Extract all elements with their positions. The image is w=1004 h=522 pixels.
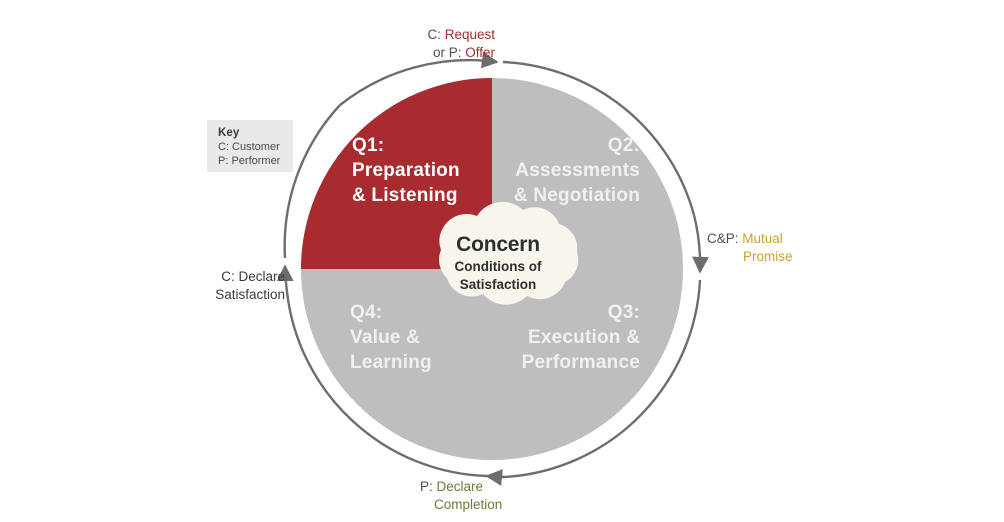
quadrant-q1-line1: Preparation bbox=[352, 158, 492, 183]
arrow-label-left-line2: Satisfaction bbox=[140, 286, 285, 304]
arrow-label-top-emphasis2: Offer bbox=[465, 45, 495, 60]
quadrant-q3-id: Q3: bbox=[478, 300, 640, 325]
concern-subtitle-line1: Conditions of bbox=[412, 258, 584, 276]
arrow-label-declare-completion: P: Declare Completion bbox=[420, 478, 600, 514]
arrow-label-bottom-emphasis2: Completion bbox=[434, 497, 502, 512]
concern-title: Concern bbox=[412, 232, 584, 258]
quadrant-q2-line1: Assessments bbox=[478, 158, 640, 183]
quadrant-q4-id: Q4: bbox=[350, 300, 500, 325]
arrow-label-bottom-emphasis: Declare bbox=[437, 479, 484, 494]
arrow-label-mutual-promise: C&P: Mutual Promise bbox=[707, 230, 887, 266]
arrow-label-top-prefix2: or P: bbox=[433, 45, 465, 60]
diagram-canvas: Key C: Customer P: Performer Q1: Prepara… bbox=[0, 0, 1004, 522]
quadrant-label-q3[interactable]: Q3: Execution & Performance bbox=[478, 300, 640, 375]
arrow-label-bottom-prefix: P: bbox=[420, 479, 437, 494]
quadrant-label-q1[interactable]: Q1: Preparation & Listening bbox=[352, 133, 492, 208]
arrow-bottom bbox=[487, 476, 505, 477]
concern-subtitle-line2: Satisfaction bbox=[412, 276, 584, 294]
quadrant-q3-line1: Execution & bbox=[478, 325, 640, 350]
arrow-label-right-prefix: C&P: bbox=[707, 231, 742, 246]
quadrant-q3-line2: Performance bbox=[478, 350, 640, 375]
arrow-left bbox=[285, 266, 287, 292]
arrow-label-right-emphasis2: Promise bbox=[743, 249, 793, 264]
quadrant-q2-line2: & Negotiation bbox=[478, 183, 640, 208]
quadrant-q2-id: Q2: bbox=[478, 133, 640, 158]
quadrant-q4-line1: Value & bbox=[350, 325, 500, 350]
key-item-performer: P: Performer bbox=[218, 154, 293, 168]
concern-cloud-label: Concern Conditions of Satisfaction bbox=[412, 232, 584, 294]
key-legend-box: Key C: Customer P: Performer bbox=[207, 120, 293, 172]
arrow-right bbox=[694, 215, 700, 272]
arrow-label-left-line1: C: Declare bbox=[140, 268, 285, 286]
key-item-customer: C: Customer bbox=[218, 140, 293, 154]
arrow-label-request-offer: C: Request or P: Offer bbox=[335, 26, 495, 62]
quadrant-q1-line2: & Listening bbox=[352, 183, 492, 208]
arrow-label-top-emphasis: Request bbox=[445, 27, 495, 42]
arrow-label-declare-satisfaction: C: Declare Satisfaction bbox=[140, 268, 285, 304]
quadrant-q4-line2: Learning bbox=[350, 350, 500, 375]
arrow-label-top-prefix: C: bbox=[427, 27, 444, 42]
key-title: Key bbox=[218, 126, 293, 140]
quadrant-label-q4[interactable]: Q4: Value & Learning bbox=[350, 300, 500, 375]
quadrant-label-q2[interactable]: Q2: Assessments & Negotiation bbox=[478, 133, 640, 208]
quadrant-q1-id: Q1: bbox=[352, 133, 492, 158]
arrow-label-right-emphasis: Mutual bbox=[742, 231, 783, 246]
